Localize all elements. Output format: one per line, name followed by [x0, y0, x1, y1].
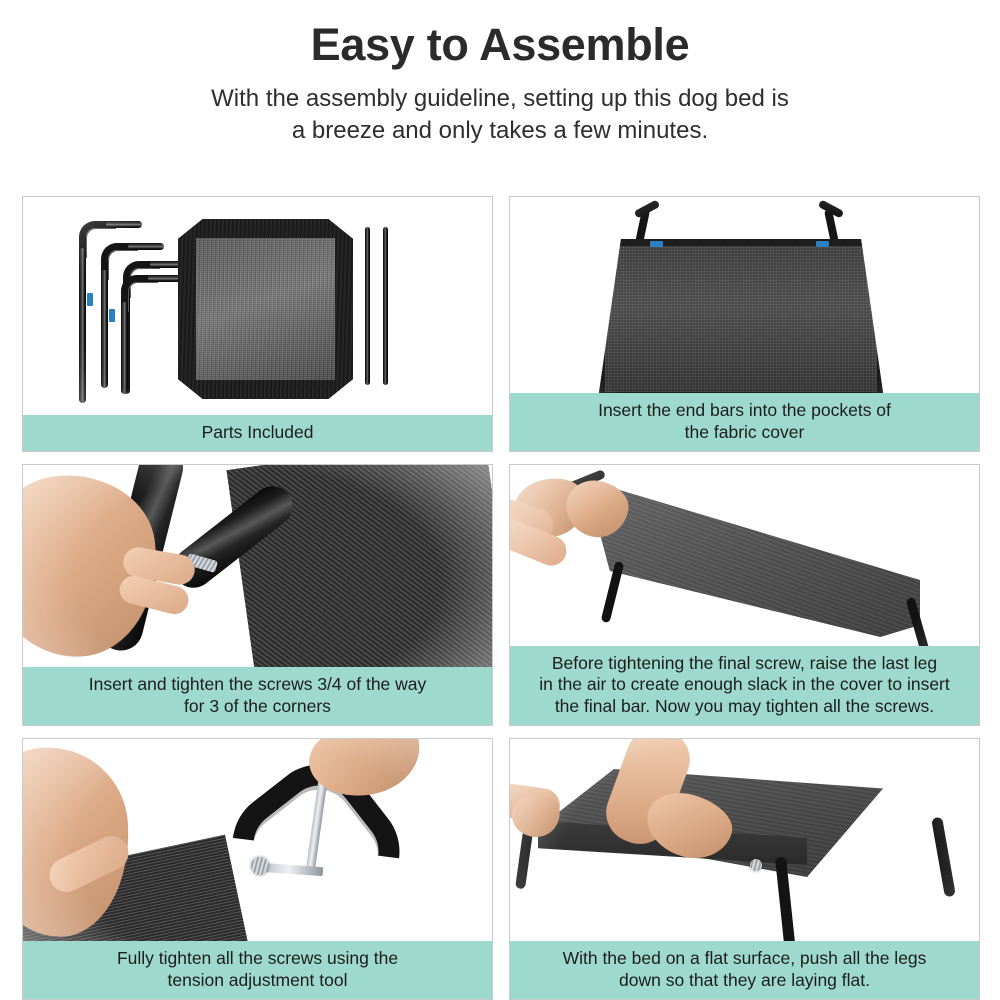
- corner-tag-top-right: [816, 241, 829, 247]
- caption-line-1: Parts Included: [31, 422, 484, 443]
- panel-parts-included: Parts Included: [22, 196, 493, 452]
- page-subtitle: With the assembly guideline, setting up …: [155, 83, 845, 146]
- corner-screw: [251, 857, 269, 875]
- mesh-cover-surface: [598, 239, 884, 399]
- panel-push-legs-flat: With the bed on a flat surface, push all…: [509, 738, 980, 1000]
- fabric-cover-part: [178, 219, 353, 399]
- panel-caption: With the bed on a flat surface, push all…: [510, 941, 979, 999]
- panel-insert-tighten-screws: Insert and tighten the screws 3/4 of the…: [22, 464, 493, 726]
- panel-raise-last-leg: Before tightening the final screw, raise…: [509, 464, 980, 726]
- caption-line-2: in the air to create enough slack in the…: [518, 674, 971, 695]
- corner-screw: [750, 859, 762, 871]
- caption-line-1: With the bed on a flat surface, push all…: [518, 948, 971, 969]
- panel-insert-end-bars: Insert the end bars into the pockets of …: [509, 196, 980, 452]
- caption-line-1: Before tightening the final screw, raise…: [518, 653, 971, 674]
- subtitle-line-2: a breeze and only takes a few minutes.: [155, 115, 845, 147]
- panel-caption: Parts Included: [23, 415, 492, 451]
- panel-fully-tighten-screws: Fully tighten all the screws using the t…: [22, 738, 493, 1000]
- caption-line-2: down so that they are laying flat.: [518, 970, 971, 991]
- steps-grid: Parts Included: [22, 196, 978, 1000]
- fabric-cover-tilted: [590, 487, 920, 637]
- panel-caption: Fully tighten all the screws using the t…: [23, 941, 492, 999]
- caption-line-1: Fully tighten all the screws using the: [31, 948, 484, 969]
- leg-tag-2: [109, 309, 115, 322]
- caption-line-2: tension adjustment tool: [31, 970, 484, 991]
- end-bar-part-1: [365, 227, 370, 385]
- caption-line-1: Insert and tighten the screws 3/4 of the…: [31, 674, 484, 695]
- leg-standing-left: [601, 561, 625, 623]
- caption-line-2: for 3 of the corners: [31, 696, 484, 717]
- panel-caption: Insert the end bars into the pockets of …: [510, 393, 979, 451]
- page-title: Easy to Assemble: [0, 22, 1000, 67]
- panel-caption: Before tightening the final screw, raise…: [510, 646, 979, 725]
- caption-line-1: Insert the end bars into the pockets of: [518, 400, 971, 421]
- panel-caption: Insert and tighten the screws 3/4 of the…: [23, 667, 492, 725]
- infographic-page: Easy to Assemble With the assembly guide…: [0, 0, 1000, 1000]
- header: Easy to Assemble With the assembly guide…: [0, 0, 1000, 146]
- leg-rear-right: [931, 817, 956, 898]
- caption-line-3: the final bar. Now you may tighten all t…: [518, 696, 971, 717]
- parts-photo: [23, 197, 492, 451]
- corner-tag-top-left: [650, 241, 663, 247]
- leg-tag-1: [87, 293, 93, 306]
- end-bar-part-2: [383, 227, 388, 385]
- caption-line-2: the fabric cover: [518, 422, 971, 443]
- subtitle-line-1: With the assembly guideline, setting up …: [155, 83, 845, 115]
